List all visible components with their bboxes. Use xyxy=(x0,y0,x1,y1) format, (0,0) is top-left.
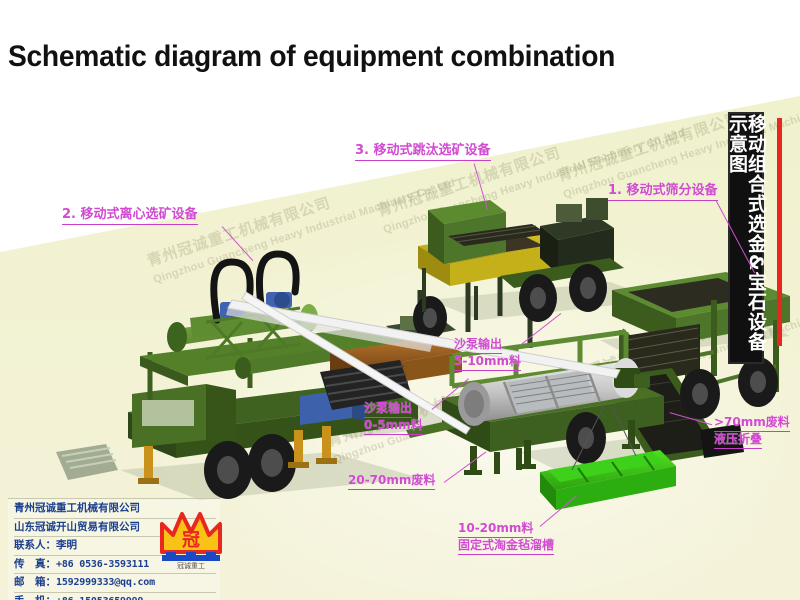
red-vertical-rule xyxy=(777,118,782,346)
label-waste-20-70: 20-70mm废料 xyxy=(348,473,435,490)
company-email-value: 1592999333@qq.com xyxy=(56,577,155,588)
page-title: Schematic diagram of equipment combinati… xyxy=(8,40,615,74)
vertical-banner-text: 移动组合式选金&宝石设备示意图 xyxy=(727,114,765,362)
schematic-canvas: 青州冠诚重工机械有限公司Qingzhou Guancheng Heavy Ind… xyxy=(0,0,800,600)
company-mobile-label: 手 机： xyxy=(14,595,56,600)
company-mobile-value: +86 15053659999 xyxy=(56,596,143,600)
access-stairs xyxy=(56,444,118,480)
label-waste-70: >70mm废料 液压折叠 xyxy=(714,415,790,449)
label-pump-0-5: 沙泵输出 0-5mm料 xyxy=(364,401,423,435)
mobile-jig-unit xyxy=(413,198,624,348)
label-pump-5-10: 沙泵输出 5-10mm料 xyxy=(454,337,521,371)
label-equip-3: 3. 移动式跳汰选矿设备 xyxy=(355,143,491,161)
company-fax-label: 传 真： xyxy=(14,558,56,570)
divider xyxy=(14,592,216,593)
label-sluice: 10-20mm料 固定式淘金毡溜槽 xyxy=(458,521,554,555)
divider xyxy=(14,573,216,574)
company-email: 邮 箱：1592999333@qq.com xyxy=(14,575,216,591)
crown-logo: 冠 冠诚重工 xyxy=(158,508,224,570)
company-mobile: 手 机：+86 15053659999 xyxy=(14,594,216,600)
label-equip-1: 1. 移动式筛分设备 xyxy=(608,183,718,201)
company-fax-value: +86 0536-3593111 xyxy=(56,559,149,570)
crown-mark: 冠 xyxy=(182,530,200,551)
label-equip-2: 2. 移动式离心选矿设备 xyxy=(62,207,198,225)
vertical-banner: 移动组合式选金&宝石设备示意图 xyxy=(728,112,764,364)
logo-subtext: 冠诚重工 xyxy=(177,561,205,570)
company-email-label: 邮 箱： xyxy=(14,576,56,588)
